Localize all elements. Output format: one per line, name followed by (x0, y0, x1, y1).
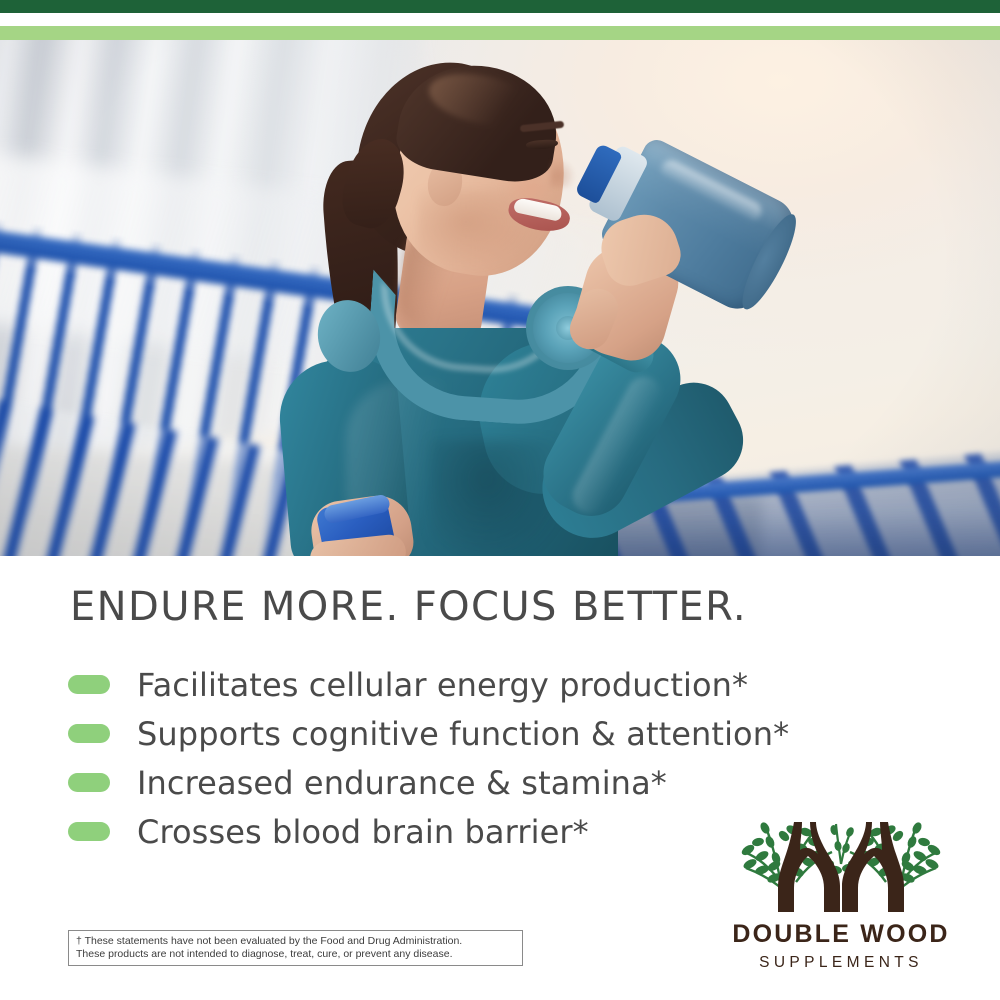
nose-shadow (550, 158, 576, 188)
disclaimer-line-1: † These statements have not been evaluat… (76, 935, 515, 948)
bullet-pill-icon (68, 822, 110, 841)
top-accent-bar-dark (0, 0, 1000, 13)
content-panel: ENDURE MORE. FOCUS BETTER. Facilitates c… (0, 556, 1000, 1000)
list-item: Increased endurance & stamina* (68, 758, 908, 807)
double-wood-tree-icon (736, 808, 946, 920)
logo-subtitle: SUPPLEMENTS (712, 954, 970, 972)
logo-wordmark: DOUBLE WOOD (712, 920, 970, 949)
brand-logo: DOUBLE WOOD SUPPLEMENTS (712, 808, 970, 990)
disclaimer-line-2: These products are not intended to diagn… (76, 948, 515, 961)
top-accent-bar-light (0, 26, 1000, 40)
woman-figure (250, 40, 810, 556)
benefit-label: Crosses blood brain barrier* (137, 813, 589, 851)
list-item: Facilitates cellular energy production* (68, 660, 908, 709)
top-accent-bar-gap (0, 13, 1000, 26)
bullet-pill-icon (68, 773, 110, 792)
bullet-pill-icon (68, 675, 110, 694)
bullet-pill-icon (68, 724, 110, 743)
list-item: Supports cognitive function & attention* (68, 709, 908, 758)
benefit-label: Facilitates cellular energy production* (137, 666, 748, 704)
hero-photo (0, 40, 1000, 556)
benefit-label: Supports cognitive function & attention* (137, 715, 789, 753)
benefit-label: Increased endurance & stamina* (137, 764, 667, 802)
fda-disclaimer-box: † These statements have not been evaluat… (68, 930, 523, 966)
page-title: ENDURE MORE. FOCUS BETTER. (70, 584, 747, 630)
